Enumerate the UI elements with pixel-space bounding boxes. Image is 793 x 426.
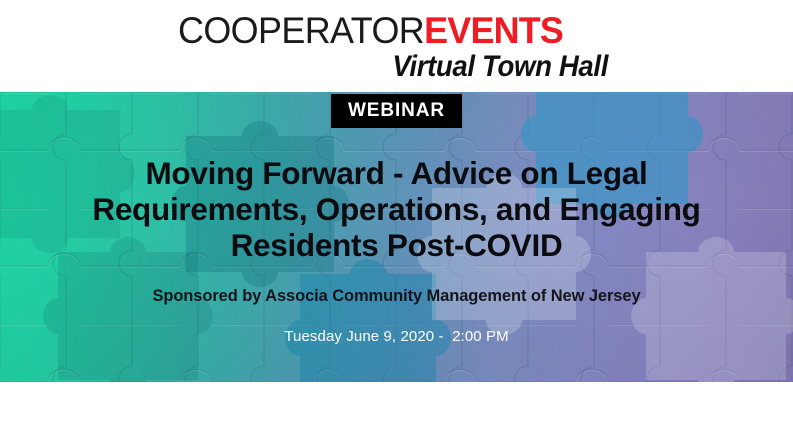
site-logo-header: COOPERATOREVENTS Virtual Town Hall	[0, 0, 793, 92]
cooperator-events-logo[interactable]: COOPERATOREVENTS Virtual Town Hall	[178, 12, 608, 83]
banner-content: WEBINAR Moving Forward - Advice on Legal…	[0, 92, 793, 382]
webinar-promo-page: COOPERATOREVENTS Virtual Town Hall	[0, 0, 793, 426]
logo-word-cooperator: COOPERATOR	[178, 10, 424, 51]
footer-whitespace	[0, 382, 793, 426]
event-title: Moving Forward - Advice on Legal Require…	[37, 155, 757, 263]
logo-primary-line: COOPERATOREVENTS	[178, 12, 595, 50]
event-sponsor: Sponsored by Associa Community Managemen…	[152, 286, 640, 306]
webinar-badge: WEBINAR	[331, 94, 462, 128]
event-datetime: Tuesday June 9, 2020 - 2:00 PM	[284, 327, 508, 346]
event-banner: WEBINAR Moving Forward - Advice on Legal…	[0, 92, 793, 382]
logo-tagline: Virtual Town Hall	[212, 51, 608, 83]
logo-word-events: EVENTS	[424, 10, 563, 51]
